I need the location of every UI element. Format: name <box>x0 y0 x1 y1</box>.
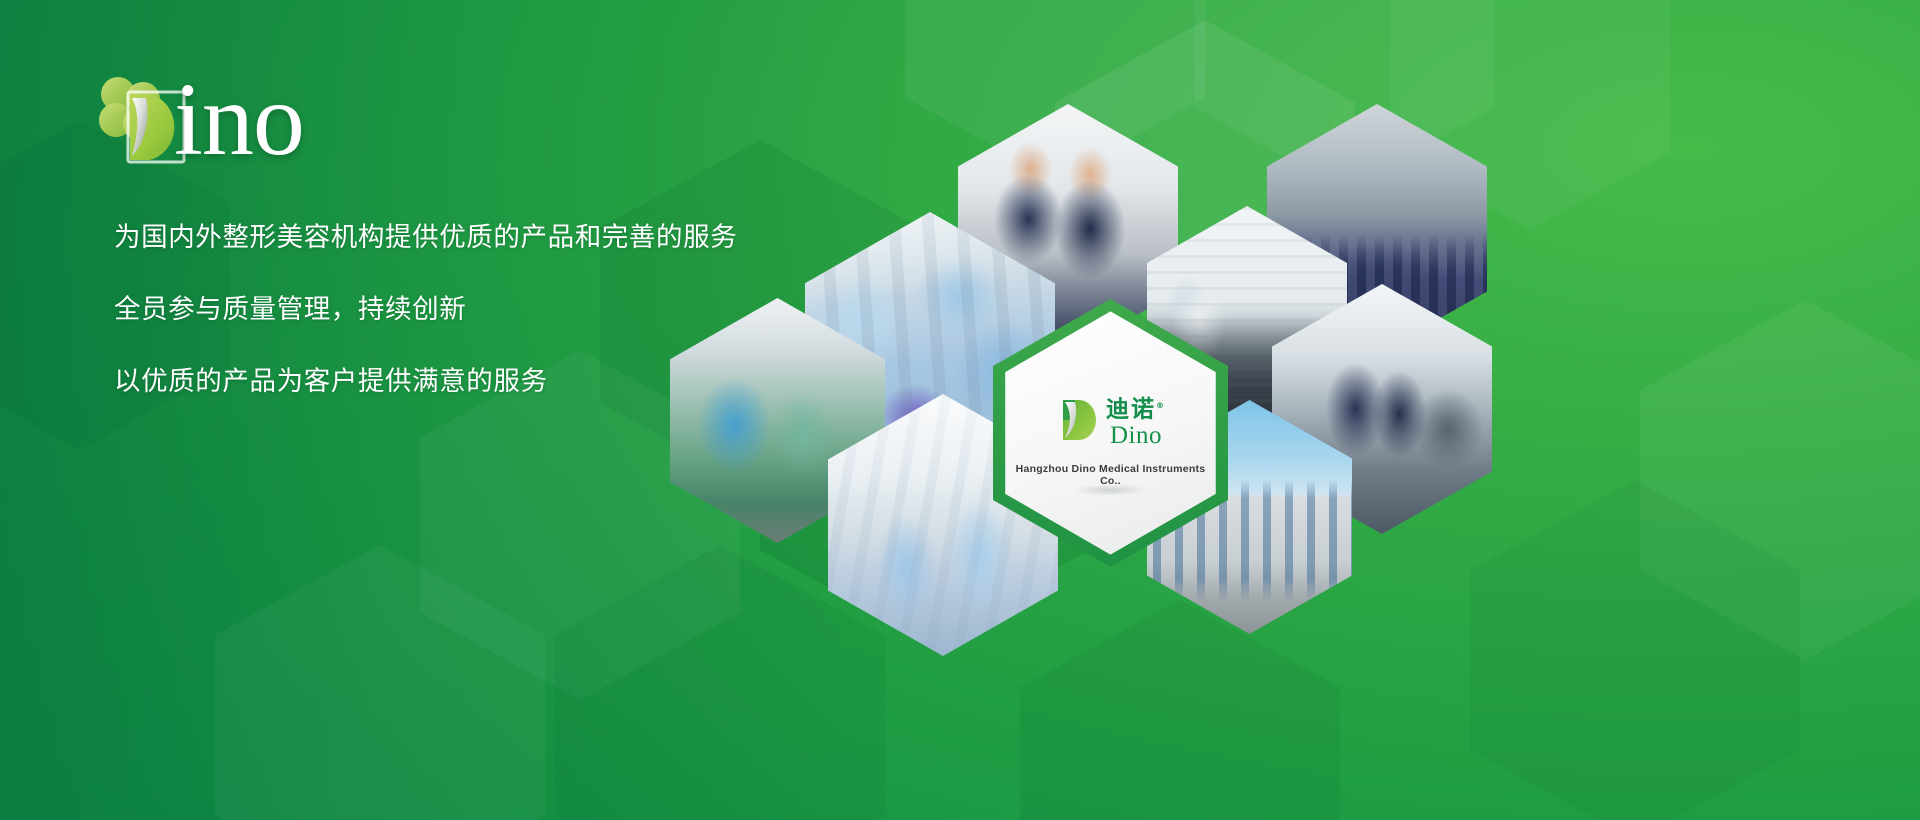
brand-wordmark: ino <box>174 68 304 172</box>
center-brand-chinese-text: 迪诺 <box>1106 397 1156 423</box>
center-brand-hexagon: 迪诺® Dino Hangzhou Dino Medical Instrumen… <box>993 299 1228 567</box>
photo-honeycomb: 迪诺® Dino Hangzhou Dino Medical Instrumen… <box>660 84 1920 644</box>
brand-reflection-shadow <box>1060 482 1161 498</box>
brand-logo: ino <box>88 66 388 186</box>
center-brand-english-name: Dino <box>1106 423 1166 448</box>
registered-mark: ® <box>1156 401 1166 410</box>
center-brand-chinese-name: 迪诺® <box>1106 394 1166 422</box>
center-dino-leaf-logo-icon <box>1055 398 1099 444</box>
hero-banner: ino 为国内外整形美容机构提供优质的产品和完善的服务 全员参与质量管理，持续创… <box>0 0 1920 820</box>
